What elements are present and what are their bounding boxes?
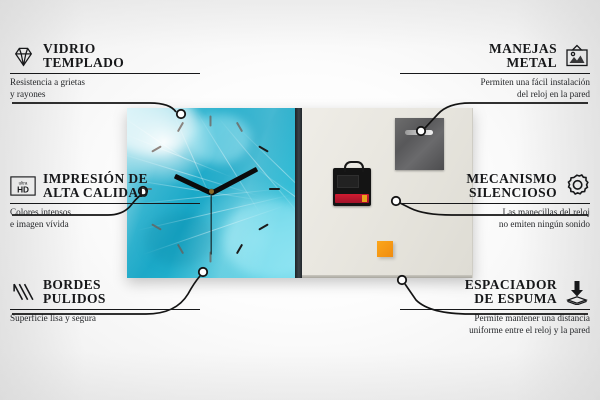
- feature-espaciador-espuma: Espaciador de Espuma Permite mantener un…: [400, 278, 590, 336]
- feature-title: Bordes Pulidos: [43, 278, 106, 306]
- feature-divider: [400, 203, 590, 204]
- feature-description: Superficie lisa y segura: [10, 313, 200, 325]
- connector-dot-mecanismo: [392, 197, 400, 205]
- feature-bordes-pulidos: Bordes Pulidos Superficie lisa y segura: [10, 278, 200, 325]
- feature-description: Permiten una fácil instalación del reloj…: [400, 77, 590, 100]
- feature-vidrio-templado: Vidrio Templado Resistencia a grietas y …: [10, 42, 200, 100]
- feature-impresion-alta-calidad: ultra HD Impresión de Alta Calidad Color…: [10, 172, 200, 230]
- feature-title: Vidrio Templado: [43, 42, 124, 70]
- connector-path-manejas: [425, 103, 588, 128]
- connector-dot-vidrio-templado: [177, 110, 185, 118]
- feature-divider: [10, 203, 200, 204]
- wall-frame-icon: [564, 43, 590, 69]
- feature-divider: [400, 73, 590, 74]
- feature-divider: [400, 309, 590, 310]
- svg-text:ultra: ultra: [19, 180, 28, 185]
- feature-title: Impresión de Alta Calidad: [43, 172, 149, 200]
- feature-divider: [10, 309, 200, 310]
- feature-description: Permite mantener una distancia uniforme …: [400, 313, 590, 336]
- feature-title: Espaciador de Espuma: [465, 278, 557, 306]
- connector-path-vidrio-templado: [12, 103, 176, 112]
- feature-mecanismo-silencioso: Mecanismo Silencioso Las manecillas del …: [400, 172, 590, 230]
- svg-text:HD: HD: [17, 186, 29, 195]
- foam-spacer-icon: [564, 279, 590, 305]
- feature-description: Colores intensos e imagen vívida: [10, 207, 200, 230]
- infographic-canvas: Vidrio Templado Resistencia a grietas y …: [0, 0, 600, 400]
- ultra-hd-icon: ultra HD: [10, 173, 36, 199]
- diamond-icon: [10, 43, 36, 69]
- feature-title: Manejas Metal: [489, 42, 557, 70]
- feature-title: Mecanismo Silencioso: [466, 172, 557, 200]
- feature-description: Las manecillas del reloj no emiten ningú…: [400, 207, 590, 230]
- feature-description: Resistencia a grietas y rayones: [10, 77, 200, 100]
- polished-edges-icon: [10, 279, 36, 305]
- gear-icon: [564, 173, 590, 199]
- connector-dot-bordes: [199, 268, 207, 276]
- feature-manejas-metal: Manejas Metal Permiten una fácil instala…: [400, 42, 590, 100]
- feature-divider: [10, 73, 200, 74]
- connector-dot-manejas: [417, 127, 425, 135]
